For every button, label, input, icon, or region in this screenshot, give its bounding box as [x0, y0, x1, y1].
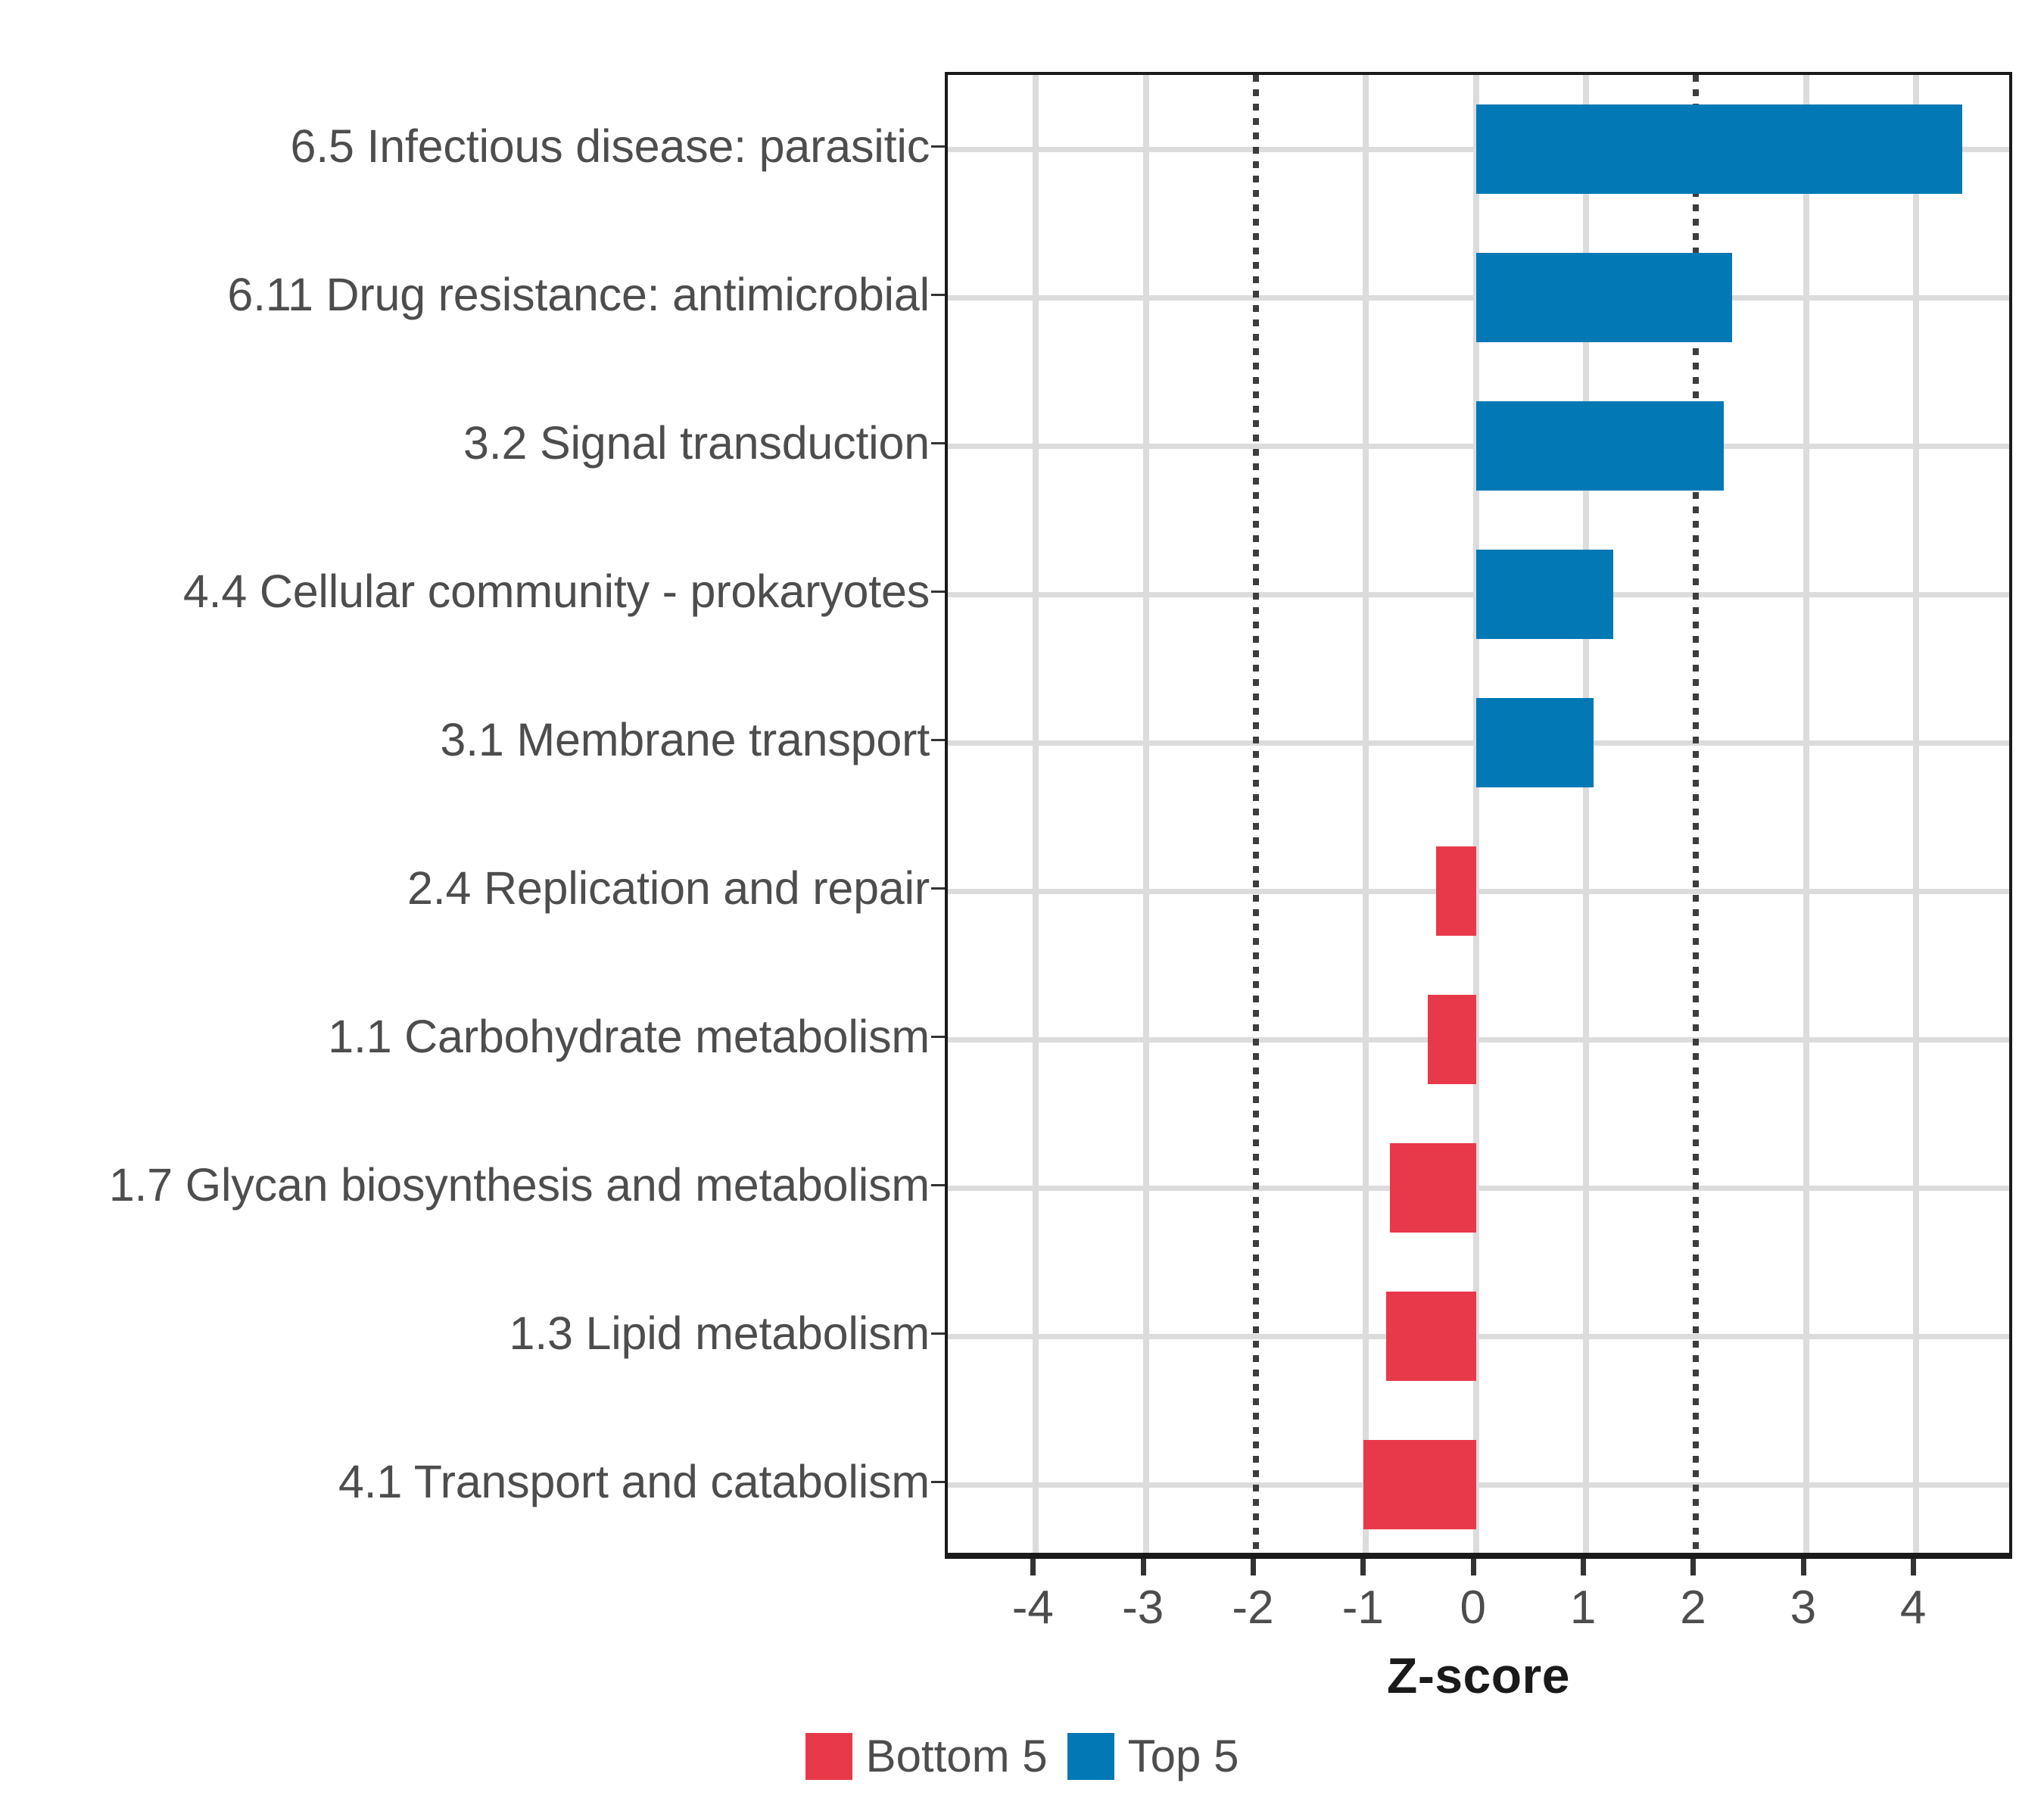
legend-item[interactable]: Bottom 5 [805, 1730, 1048, 1782]
y-axis-tick-mark [931, 1184, 945, 1186]
x-axis-tick-mark [1251, 1559, 1256, 1575]
chart-bar [1436, 846, 1475, 936]
y-axis-tick-mark [931, 145, 945, 148]
x-axis-tick-label: 1 [1522, 1581, 1644, 1635]
x-axis-tick-mark [1030, 1559, 1036, 1575]
vertical-gridline [1363, 75, 1369, 1553]
y-axis-category-label: 3.1 Membrane transport [440, 715, 930, 764]
y-axis-category-label: 2.4 Replication and repair [407, 864, 930, 912]
y-axis-label-row: 1.3 Lipid metabolism [0, 1259, 945, 1407]
legend-color-swatch [1067, 1733, 1114, 1780]
x-axis-tick-label: -4 [972, 1581, 1093, 1635]
y-axis-labels: 6.5 Infectious disease: parasitic6.11 Dr… [0, 72, 945, 1556]
plot-panel [945, 72, 2012, 1556]
y-axis-tick-mark [931, 1332, 945, 1335]
x-axis-tick-label: -2 [1192, 1581, 1313, 1635]
y-axis-label-row: 4.1 Transport and catabolism [0, 1407, 945, 1556]
x-axis-tick-mark [1471, 1559, 1476, 1575]
chart-bar [1476, 550, 1614, 639]
chart-figure: 6.5 Infectious disease: parasitic6.11 Dr… [0, 0, 2044, 1817]
y-axis-label-row: 3.2 Signal transduction [0, 369, 945, 517]
vertical-gridline [1143, 75, 1149, 1553]
plot-area [948, 75, 2009, 1553]
y-axis-tick-mark [931, 294, 945, 296]
chart-legend: Bottom 5Top 5 [0, 1730, 2044, 1782]
chart-bar [1390, 1143, 1475, 1233]
x-axis-tick-mark [1581, 1559, 1586, 1575]
chart-bar [1428, 995, 1476, 1084]
legend-label: Top 5 [1128, 1730, 1239, 1782]
y-axis-label-row: 1.1 Carbohydrate metabolism [0, 962, 945, 1111]
y-axis-label-row: 1.7 Glycan biosynthesis and metabolism [0, 1111, 945, 1259]
chart-bar [1476, 253, 1733, 342]
vertical-gridline [1803, 75, 1809, 1553]
chart-bar [1476, 104, 1962, 194]
y-axis-tick-mark [931, 442, 945, 444]
x-axis-title: Z-score [945, 1647, 2012, 1704]
y-axis-category-label: 4.1 Transport and catabolism [338, 1457, 930, 1506]
x-axis-line [945, 1553, 2012, 1559]
y-axis-label-row: 4.4 Cellular community - prokaryotes [0, 517, 945, 665]
x-axis-tick-label: 0 [1413, 1581, 1534, 1635]
y-axis-tick-mark [931, 739, 945, 741]
y-axis-category-label: 3.2 Signal transduction [463, 419, 930, 467]
chart-bar [1363, 1440, 1475, 1529]
chart-bar [1476, 401, 1724, 491]
legend-color-swatch [805, 1733, 852, 1780]
chart-bar [1386, 1292, 1476, 1381]
vertical-gridline [1913, 75, 1919, 1553]
x-axis-tick-mark [1690, 1559, 1696, 1575]
x-axis-tick-mark [1911, 1559, 1916, 1575]
y-axis-label-row: 3.1 Membrane transport [0, 665, 945, 814]
y-axis-label-row: 6.11 Drug resistance: antimicrobial [0, 220, 945, 369]
x-axis-tick-label: 3 [1743, 1581, 1864, 1635]
vertical-gridline [1033, 75, 1039, 1553]
x-axis-tick-mark [1801, 1559, 1806, 1575]
y-axis-category-label: 1.1 Carbohydrate metabolism [328, 1012, 930, 1061]
y-axis-label-row: 6.5 Infectious disease: parasitic [0, 72, 945, 220]
legend-label: Bottom 5 [866, 1730, 1048, 1782]
legend-item[interactable]: Top 5 [1067, 1730, 1239, 1782]
y-axis-tick-mark [931, 591, 945, 593]
y-axis-category-label: 1.7 Glycan biosynthesis and metabolism [109, 1161, 930, 1209]
y-axis-category-label: 6.11 Drug resistance: antimicrobial [227, 270, 930, 319]
y-axis-tick-mark [931, 1036, 945, 1038]
y-axis-category-label: 1.3 Lipid metabolism [509, 1309, 930, 1357]
x-axis-tick-label: 2 [1632, 1581, 1753, 1635]
chart-bar [1476, 698, 1594, 787]
x-axis-tick-label: 4 [1852, 1581, 1974, 1635]
y-axis-category-label: 4.4 Cellular community - prokaryotes [183, 567, 930, 616]
x-axis-tick-mark [1141, 1559, 1146, 1575]
y-axis-category-label: 6.5 Infectious disease: parasitic [291, 122, 930, 170]
x-axis-tick-label: -3 [1083, 1581, 1204, 1635]
x-axis-tick-label: -1 [1302, 1581, 1423, 1635]
x-axis-tick-mark [1360, 1559, 1366, 1575]
y-axis-tick-mark [931, 887, 945, 890]
y-axis-tick-mark [931, 1481, 945, 1483]
y-axis-label-row: 2.4 Replication and repair [0, 814, 945, 962]
reference-line [1253, 75, 1259, 1553]
